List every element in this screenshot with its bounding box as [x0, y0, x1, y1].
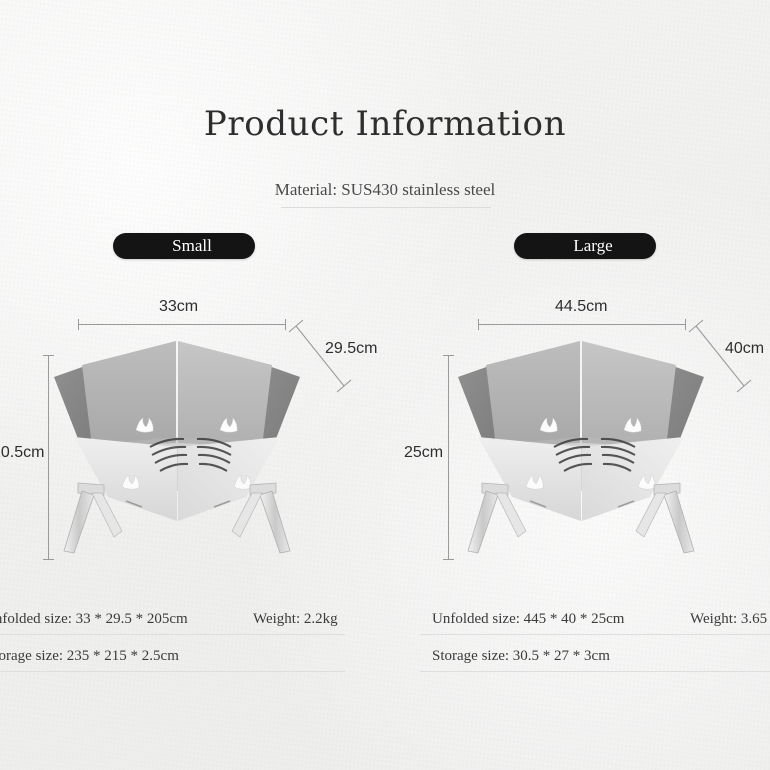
subtitle-divider — [281, 207, 491, 208]
spec-storage-size-small: Storage size: 235 * 215 * 2.5cm — [0, 648, 179, 665]
dim-line-height-small — [48, 355, 49, 560]
spec-unfolded-size-large: Unfolded size: 445 * 40 * 25cm — [432, 611, 624, 628]
dim-label-height-small: 20.5cm — [0, 444, 44, 462]
dim-line-diagonal-small — [288, 318, 358, 398]
dim-label-width-small: 33cm — [159, 298, 198, 316]
dim-label-width-large: 44.5cm — [555, 298, 607, 316]
badge-small: Small — [113, 233, 255, 259]
page-title: Product Information — [0, 104, 770, 144]
spec-divider-small-bottom — [0, 671, 345, 672]
spec-storage-size-large: Storage size: 30.5 * 27 * 3cm — [432, 648, 610, 665]
spec-weight-small: Weight: 2.2kg — [253, 611, 338, 628]
material-subtitle: Material: SUS430 stainless steel — [0, 180, 770, 200]
spec-divider-large-top — [420, 634, 770, 635]
badge-small-label: Small — [172, 236, 212, 256]
dim-line-width-small — [78, 324, 286, 325]
spec-unfolded-size-small: Unfolded size: 33 * 29.5 * 205cm — [0, 611, 188, 628]
product-information-page: Product Information Material: SUS430 sta… — [0, 0, 770, 770]
badge-large: Large — [514, 233, 656, 259]
dim-label-diagonal-large: 40cm — [725, 340, 764, 358]
dim-line-width-large — [478, 324, 686, 325]
spec-divider-small-top — [0, 634, 345, 635]
dim-line-diagonal-large — [688, 318, 758, 398]
spec-divider-large-bottom — [420, 671, 770, 672]
dim-label-diagonal-small: 29.5cm — [325, 340, 377, 358]
dim-label-height-large: 25cm — [404, 444, 443, 462]
dim-line-height-large — [448, 355, 449, 560]
spec-weight-large: Weight: 3.65 — [690, 611, 767, 628]
badge-large-label: Large — [573, 236, 612, 256]
